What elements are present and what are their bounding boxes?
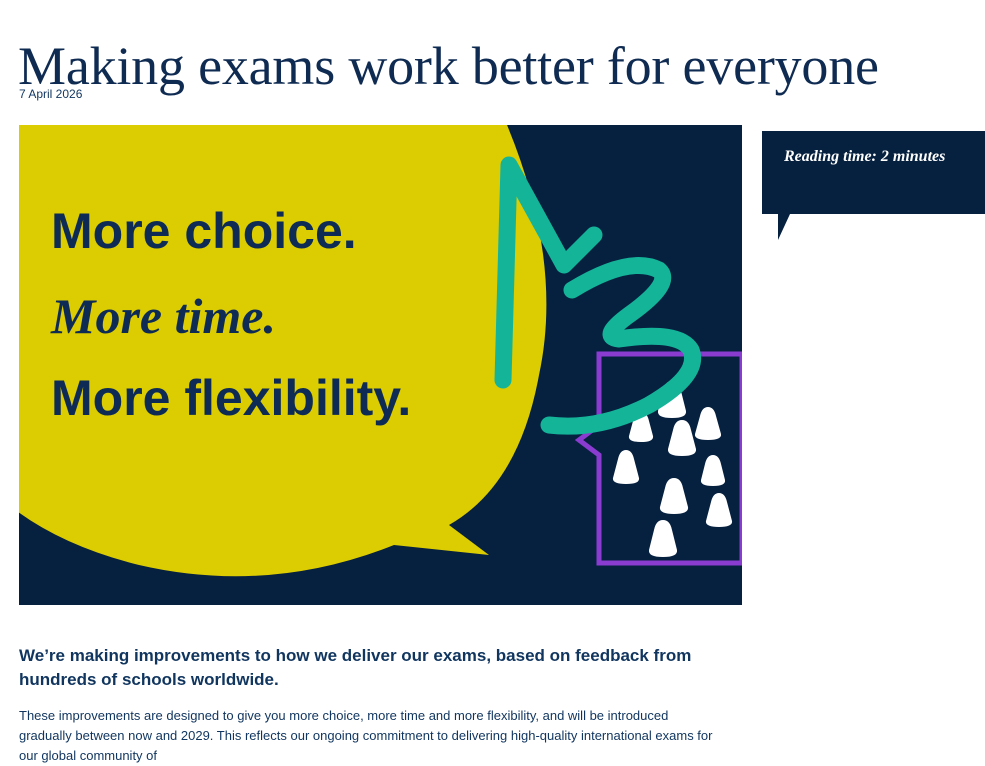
- article-body: We’re making improvements to how we deli…: [19, 644, 719, 766]
- hero-line-3: More flexibility.: [51, 370, 411, 426]
- hero-line-2: More time.: [50, 288, 276, 344]
- hero-line-1: More choice.: [51, 203, 357, 259]
- publish-date: 7 April 2026: [19, 86, 82, 102]
- reading-time-tail-icon: [778, 214, 808, 240]
- yellow-speech-bubble: [19, 125, 546, 576]
- page-title: Making exams work better for everyone: [18, 32, 978, 100]
- body-paragraph: These improvements are designed to give …: [19, 706, 719, 766]
- body-lead-paragraph: We’re making improvements to how we deli…: [19, 644, 719, 692]
- reading-time-label: Reading time: 2 minutes: [784, 146, 949, 167]
- reading-time-box: [762, 131, 985, 214]
- hero-banner-image: More choice. More time. More flexibility…: [19, 125, 742, 605]
- hero-graphic: More choice. More time. More flexibility…: [19, 125, 742, 605]
- reading-time-callout: Reading time: 2 minutes: [762, 131, 985, 241]
